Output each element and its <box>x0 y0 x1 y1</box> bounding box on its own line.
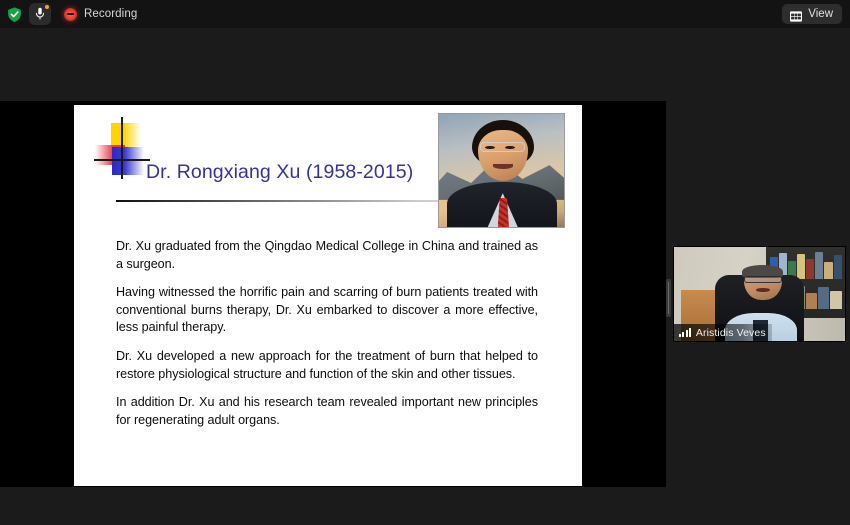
record-dot-icon <box>64 8 77 21</box>
decoration-vertical-line <box>121 117 123 179</box>
portrait-photo <box>438 113 565 228</box>
top-bar-right-group: View <box>782 4 850 24</box>
recording-label: Recording <box>84 8 137 20</box>
audio-level-bars-icon <box>679 328 691 337</box>
mic-status-dot <box>45 5 49 9</box>
shield-check-icon[interactable] <box>4 4 24 24</box>
slide-paragraph: Having witnessed the horrific pain and s… <box>116 284 538 337</box>
slide-paragraph: Dr. Xu developed a new approach for the … <box>116 348 538 383</box>
grid-layout-icon <box>790 9 802 20</box>
slide-paragraph: In addition Dr. Xu and his research team… <box>116 394 538 429</box>
slide-body-text: Dr. Xu graduated from the Qingdao Medica… <box>116 238 538 429</box>
recording-indicator[interactable]: Recording <box>64 8 137 21</box>
decoration-blue-square <box>112 147 144 175</box>
panel-resize-handle[interactable] <box>666 279 671 317</box>
view-button-label: View <box>808 8 833 20</box>
presentation-slide: Dr. Rongxiang Xu (1958-2015) Dr. Xu grad… <box>74 105 582 486</box>
slide-paragraph: Dr. Xu graduated from the Qingdao Medica… <box>116 238 538 273</box>
participant-name-bar: Aristidis Veves <box>674 324 772 341</box>
zoom-top-bar: Recording View <box>0 0 850 28</box>
microphone-icon <box>34 7 46 21</box>
participant-name: Aristidis Veves <box>696 327 766 339</box>
decoration-yellow-square <box>111 123 141 147</box>
slide-title: Dr. Rongxiang Xu (1958-2015) <box>146 161 413 184</box>
top-bar-left-group: Recording <box>0 0 137 28</box>
participant-video-tile[interactable]: Aristidis Veves <box>673 246 846 342</box>
shared-screen-canvas[interactable]: Dr. Rongxiang Xu (1958-2015) Dr. Xu grad… <box>0 101 666 487</box>
decoration-horizontal-line <box>94 159 150 161</box>
view-button[interactable]: View <box>782 4 842 24</box>
microphone-button[interactable] <box>29 3 51 25</box>
